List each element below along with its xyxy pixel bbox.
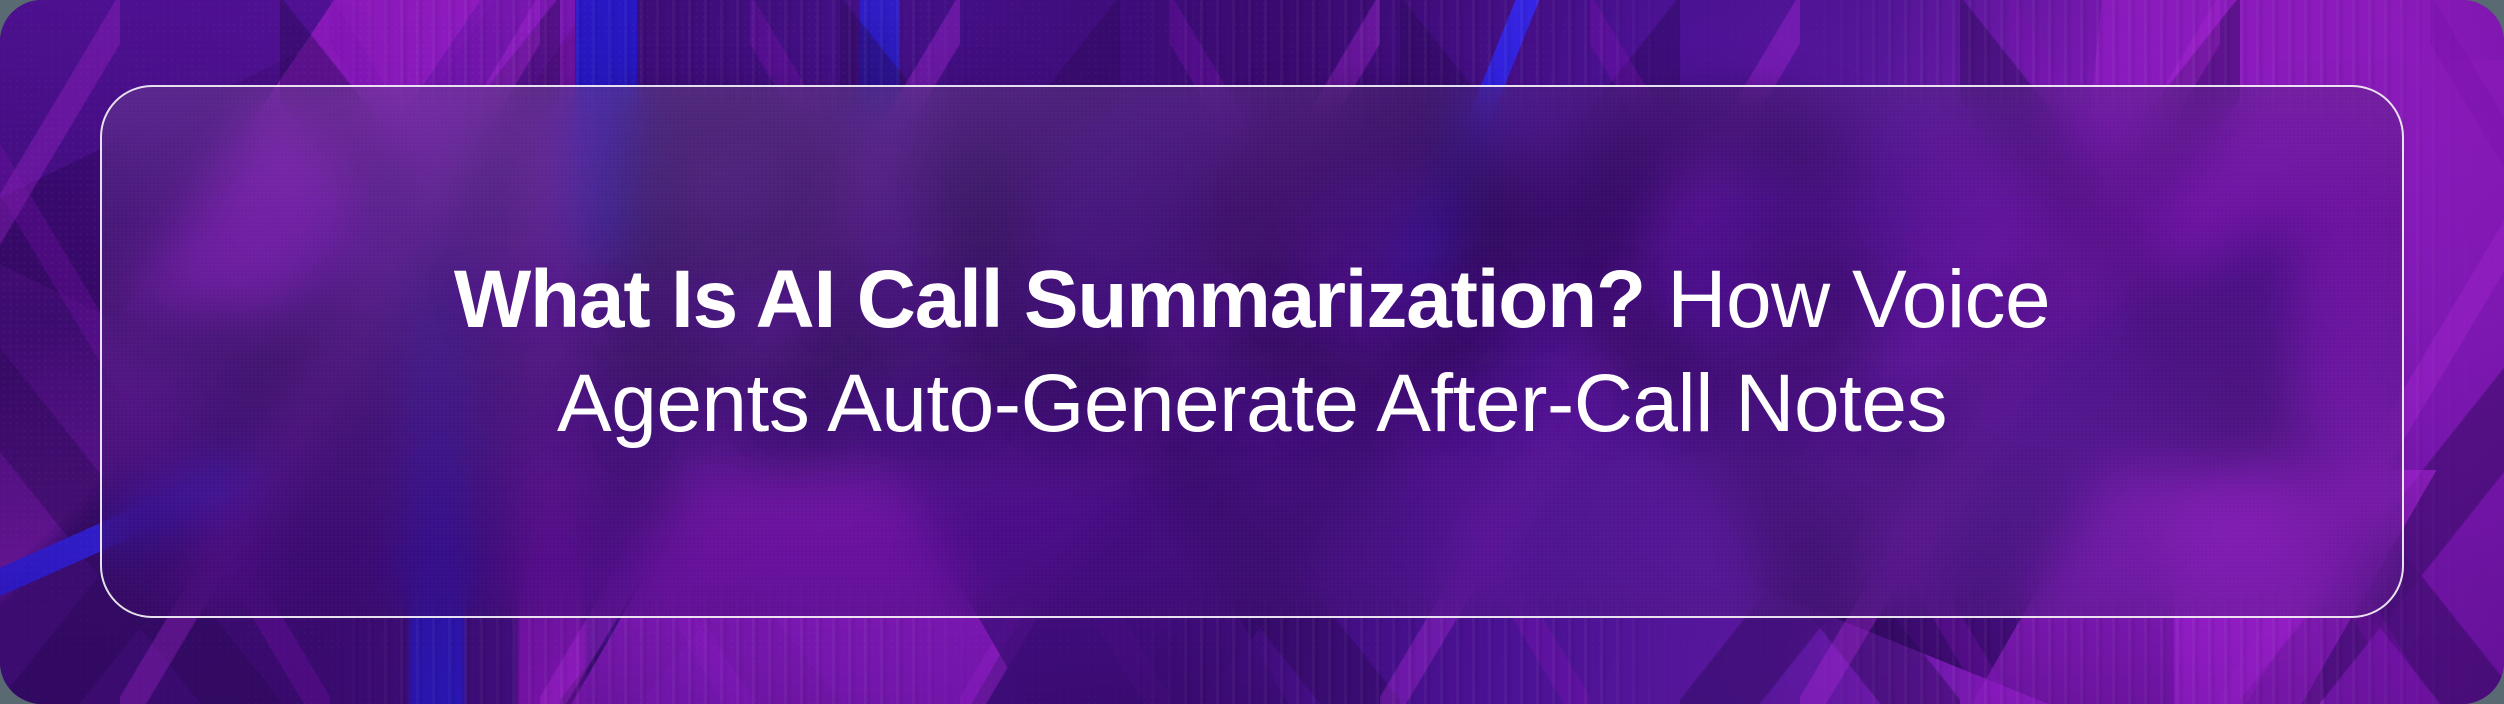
page-title-remainder-line-two: Agents Auto-Generate After-Call Notes (557, 358, 1947, 449)
page-title: What Is AI Call Summarization? How Voice… (394, 248, 2110, 455)
blog-hero-banner: BLOG What Is AI Call Summarization? How … (0, 0, 2504, 704)
page-title-emphasis: What Is AI Call Summarization? (454, 254, 1645, 345)
page-title-remainder-line-one: How Voice (1645, 254, 2050, 345)
glass-title-card: What Is AI Call Summarization? How Voice… (100, 85, 2404, 618)
